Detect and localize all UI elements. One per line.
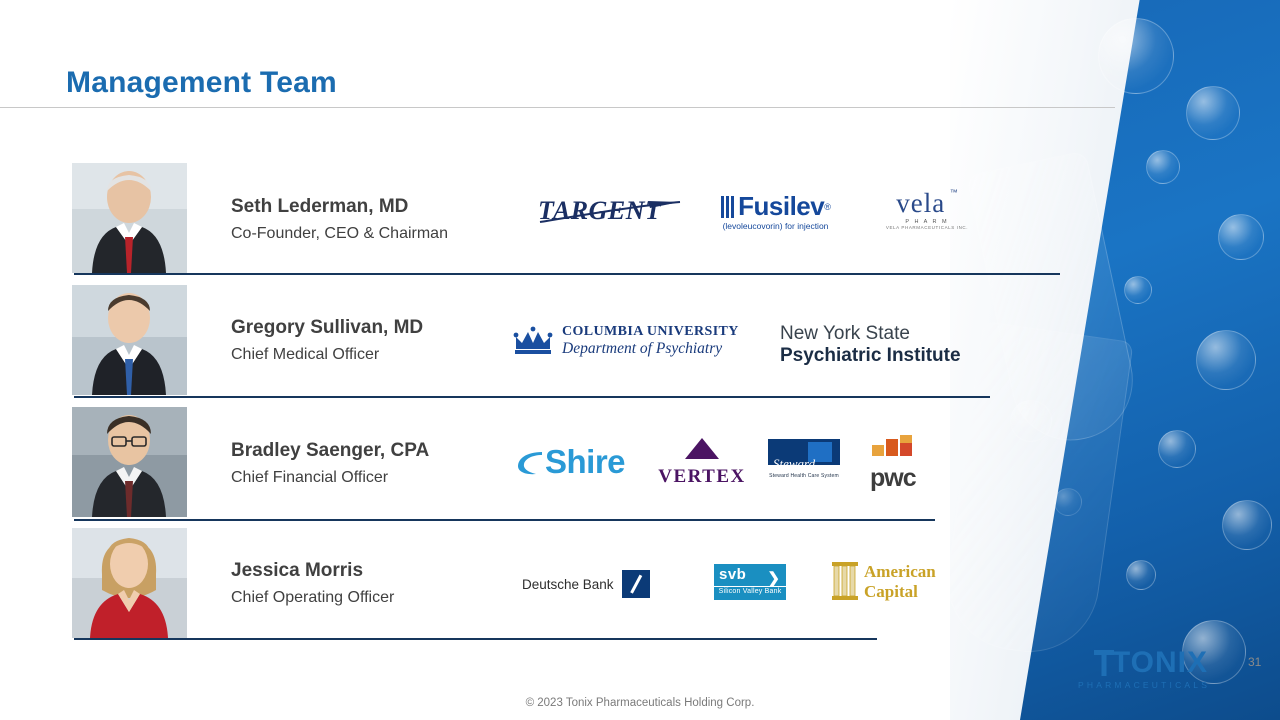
vertex-logo: VERTEX (652, 437, 752, 488)
pwc-wordmark: pwc (870, 464, 920, 493)
fusilev-logo: Fusilev ® (levoleucovorin) for injection (708, 191, 843, 231)
person-role: Chief Medical Officer (231, 346, 379, 364)
bubble-icon (1158, 430, 1196, 468)
portrait-seth-lederman (72, 163, 187, 273)
svb-mark-icon: svb ❯ Silicon Valley Bank (714, 564, 786, 600)
american-capital-line1: American (864, 562, 936, 582)
vela-wordmark: vela (896, 188, 945, 218)
tonix-tagline: PHARMACEUTICALS (1078, 680, 1208, 690)
fusilev-wordmark: Fusilev (738, 191, 824, 222)
targent-logo: TARGENT (538, 195, 683, 234)
targent-logo-mark: TARGENT (538, 195, 683, 229)
team-member-row: Jessica Morris Chief Operating Officer D… (72, 528, 877, 640)
nysp-line1: New York State (780, 323, 961, 345)
tonix-logo: TONIX PHARMACEUTICALS (1078, 648, 1208, 690)
deutsche-bank-wordmark: Deutsche Bank (522, 577, 614, 592)
person-name: Seth Lederman, MD (231, 196, 408, 218)
person-role: Co-Founder, CEO & Chairman (231, 225, 448, 243)
american-capital-columns-icon (832, 562, 858, 600)
vertex-wordmark: VERTEX (652, 466, 752, 488)
portrait-gregory-sullivan (72, 285, 187, 395)
row-divider (74, 638, 877, 640)
bubble-icon (1098, 18, 1174, 94)
columbia-department: Department of Psychiatry (562, 340, 739, 358)
bubble-icon (1222, 500, 1272, 550)
svg-text:TARGENT: TARGENT (538, 196, 662, 225)
page-title: Management Team (66, 66, 337, 100)
bubble-icon (1186, 86, 1240, 140)
portrait-jessica-morris (72, 528, 187, 638)
avatar (72, 528, 187, 638)
vertex-triangle-icon (677, 437, 727, 461)
steward-logo: Steward Steward Health Care System (768, 439, 840, 481)
team-member-row: Seth Lederman, MD Co-Founder, CEO & Chai… (72, 163, 1062, 275)
vela-logo: vela ™ P H A R M VELA PHARMACEUTICALS IN… (872, 188, 982, 230)
bubble-icon (1124, 276, 1152, 304)
trademark-icon: ™ (950, 188, 958, 197)
row-divider (74, 396, 990, 398)
team-member-row: Bradley Saenger, CPA Chief Financial Off… (72, 407, 937, 520)
chevron-right-icon: ❯ (767, 569, 780, 587)
copyright-footer: © 2023 Tonix Pharmaceuticals Holding Cor… (0, 697, 1280, 709)
person-name: Jessica Morris (231, 560, 363, 582)
shire-swoosh-icon (516, 447, 544, 477)
new-york-state-psychiatric-institute-logo: New York State Psychiatric Institute (780, 323, 961, 367)
decorative-background (950, 0, 1280, 720)
fusilev-tagline: (levoleucovorin) for injection (708, 221, 843, 231)
bubble-icon (1196, 330, 1256, 390)
avatar (72, 407, 187, 517)
avatar (72, 285, 187, 395)
bubble-icon (1218, 214, 1264, 260)
vela-legal-name: VELA PHARMACEUTICALS INC. (872, 225, 982, 230)
steward-wordmark: Steward (773, 456, 815, 472)
title-divider (0, 107, 1115, 108)
silicon-valley-bank-logo: svb ❯ Silicon Valley Bank (714, 564, 786, 600)
bubble-icon (1146, 150, 1180, 184)
bubble-icon (1126, 560, 1156, 590)
svb-subtext: Silicon Valley Bank (714, 588, 786, 595)
person-name: Bradley Saenger, CPA (231, 440, 429, 462)
columbia-crown-icon (512, 323, 554, 359)
fusilev-mark-icon (720, 194, 738, 220)
team-member-row: Gregory Sullivan, MD Chief Medical Offic… (72, 285, 992, 397)
person-role: Chief Operating Officer (231, 589, 394, 607)
row-divider (74, 273, 1060, 275)
avatar (72, 163, 187, 273)
american-capital-logo: American Capital (832, 562, 936, 602)
registered-mark-icon: ® (824, 202, 831, 212)
tonix-wordmark: TONIX (1092, 648, 1208, 678)
pwc-logo: pwc (870, 435, 920, 493)
portrait-bradley-saenger (72, 407, 187, 517)
nysp-line2: Psychiatric Institute (780, 345, 961, 367)
shire-wordmark: Shire (545, 443, 625, 481)
row-divider (74, 519, 935, 521)
shire-logo: Shire (516, 443, 625, 481)
person-name: Gregory Sullivan, MD (231, 317, 423, 339)
slide-canvas: Management Team Seth Lederman, MD Co-Fou… (0, 0, 1280, 720)
steward-tagline: Steward Health Care System (768, 473, 840, 479)
page-number: 31 (1248, 655, 1261, 669)
deutsche-bank-mark-icon (622, 570, 650, 598)
pwc-blocks-icon (870, 435, 920, 457)
person-role: Chief Financial Officer (231, 469, 388, 487)
columbia-university-logo: COLUMBIA UNIVERSITY Department of Psychi… (512, 323, 739, 359)
american-capital-line2: Capital (864, 582, 936, 602)
columbia-wordmark: COLUMBIA UNIVERSITY (562, 324, 739, 340)
deutsche-bank-logo: Deutsche Bank (522, 570, 650, 598)
